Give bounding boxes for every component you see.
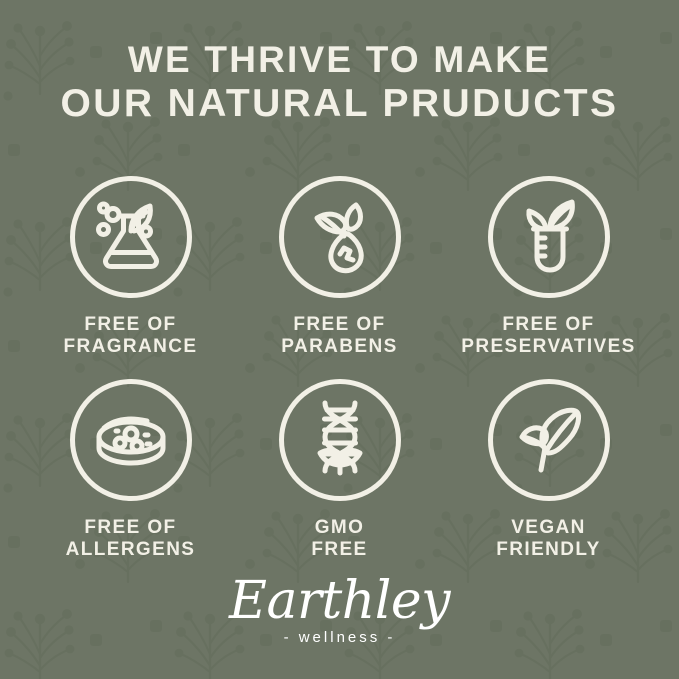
- badge-label-line-2: PRESERVATIVES: [461, 336, 635, 358]
- badge-label-line-1: VEGAN: [496, 517, 600, 539]
- badge-label-line-1: FREE OF: [64, 314, 198, 336]
- brand-wordmark: Earthley: [229, 575, 450, 627]
- headline-line-1: WE THRIVE TO MAKE: [22, 38, 657, 81]
- badge-label-line-1: FREE OF: [281, 314, 397, 336]
- test-tube-with-leaves-icon: [486, 174, 612, 300]
- badge-free-of-allergens: FREE OF ALLERGENS: [26, 377, 235, 562]
- badge-label-line-2: PARABENS: [281, 336, 397, 358]
- page-title: WE THRIVE TO MAKE OUR NATURAL PRUDUCTS: [0, 38, 679, 127]
- badge-label: FREE OF PRESERVATIVES: [461, 314, 635, 359]
- badge-label: FREE OF PARABENS: [281, 314, 397, 359]
- droplet-with-leaves-icon: [277, 174, 403, 300]
- badge-label-line-1: FREE OF: [461, 314, 635, 336]
- badge-label: FREE OF FRAGRANCE: [64, 314, 198, 359]
- flask-with-leaf-icon: [68, 174, 194, 300]
- badge-label-line-1: GMO: [311, 517, 367, 539]
- brand-tagline: - wellness -: [284, 629, 396, 646]
- badge-gmo-free: GMO FREE: [235, 377, 444, 562]
- brand-logo: Earthley - wellness -: [229, 575, 450, 646]
- headline-line-2: OUR NATURAL PRUDUCTS: [22, 81, 657, 127]
- content-layer: WE THRIVE TO MAKE OUR NATURAL PRUDUCTS: [0, 0, 679, 679]
- two-leaves-icon: [486, 377, 612, 503]
- badge-label-line-2: FREE: [311, 539, 367, 561]
- claims-badge-grid: FREE OF FRAGRANCE FREE: [0, 174, 679, 562]
- badge-free-of-parabens: FREE OF PARABENS: [235, 174, 444, 359]
- badge-label: FREE OF ALLERGENS: [66, 517, 196, 562]
- badge-label-line-2: ALLERGENS: [66, 539, 196, 561]
- badge-free-of-preservatives: FREE OF PRESERVATIVES: [444, 174, 653, 359]
- badge-label: VEGAN FRIENDLY: [496, 517, 600, 562]
- badge-label-line-2: FRAGRANCE: [64, 336, 198, 358]
- badge-label-line-2: FRIENDLY: [496, 539, 600, 561]
- badge-vegan-friendly: VEGAN FRIENDLY: [444, 377, 653, 562]
- badge-free-of-fragrance: FREE OF FRAGRANCE: [26, 174, 235, 359]
- badge-label-line-1: FREE OF: [66, 517, 196, 539]
- dna-with-leaves-icon: [277, 377, 403, 503]
- petri-dish-icon: [68, 377, 194, 503]
- badge-label: GMO FREE: [311, 517, 367, 562]
- product-claims-graphic: WE THRIVE TO MAKE OUR NATURAL PRUDUCTS: [0, 0, 679, 679]
